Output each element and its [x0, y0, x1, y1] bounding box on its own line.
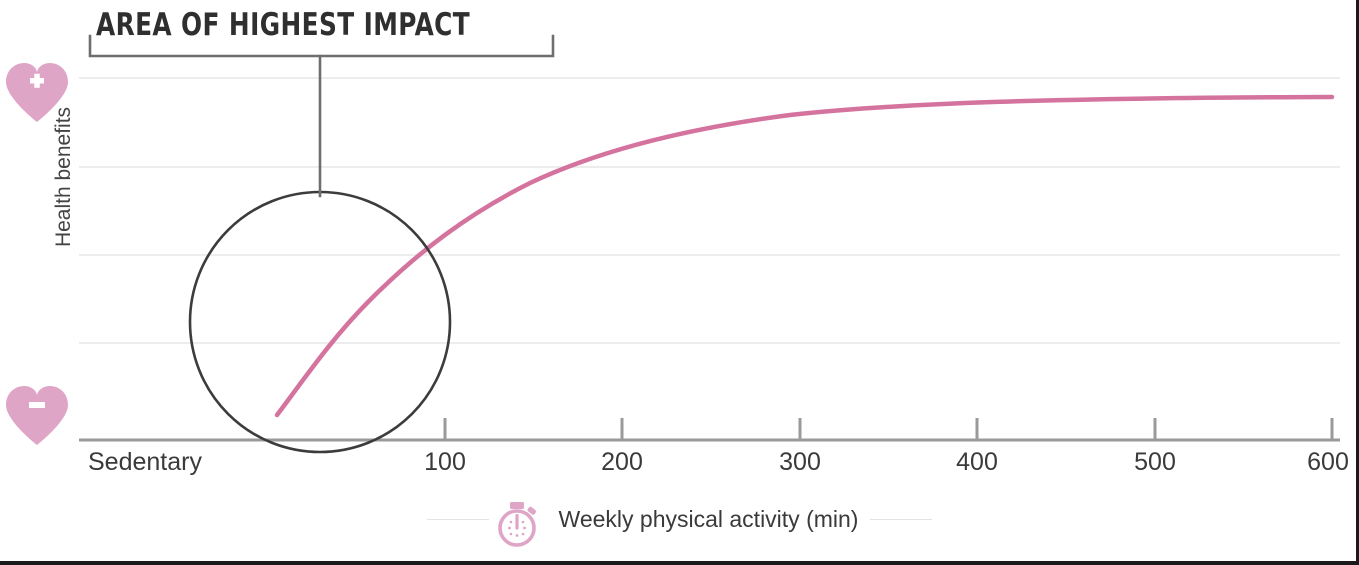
- x-tick-label-500: 500: [1134, 448, 1176, 477]
- x-tick-label-600: 600: [1307, 448, 1349, 477]
- gridlines: [79, 78, 1340, 343]
- magnifier-circle-icon: [190, 192, 450, 452]
- x-axis-origin-label: Sedentary: [88, 448, 202, 477]
- y-axis-title: Health benefits: [52, 77, 76, 277]
- x-tick-label-200: 200: [601, 448, 643, 477]
- chart-canvas: [0, 0, 1359, 565]
- x-tick-label-300: 300: [779, 448, 821, 477]
- caption-rule-left: [427, 519, 489, 520]
- heart-minus-icon: [6, 386, 68, 445]
- chart-figure: AREA OF HIGHEST IMPACT Health benefits S…: [0, 0, 1359, 565]
- x-tick-label-100: 100: [424, 448, 466, 477]
- callout-bracket-icon: [90, 36, 553, 196]
- caption-rule-right: [870, 519, 932, 520]
- x-axis-caption: Weekly physical activity (min): [0, 506, 1359, 533]
- x-axis-caption-text: Weekly physical activity (min): [559, 506, 859, 533]
- callout-title: AREA OF HIGHEST IMPACT: [96, 7, 470, 43]
- x-axis-ticks: [445, 418, 1332, 440]
- x-tick-label-400: 400: [956, 448, 998, 477]
